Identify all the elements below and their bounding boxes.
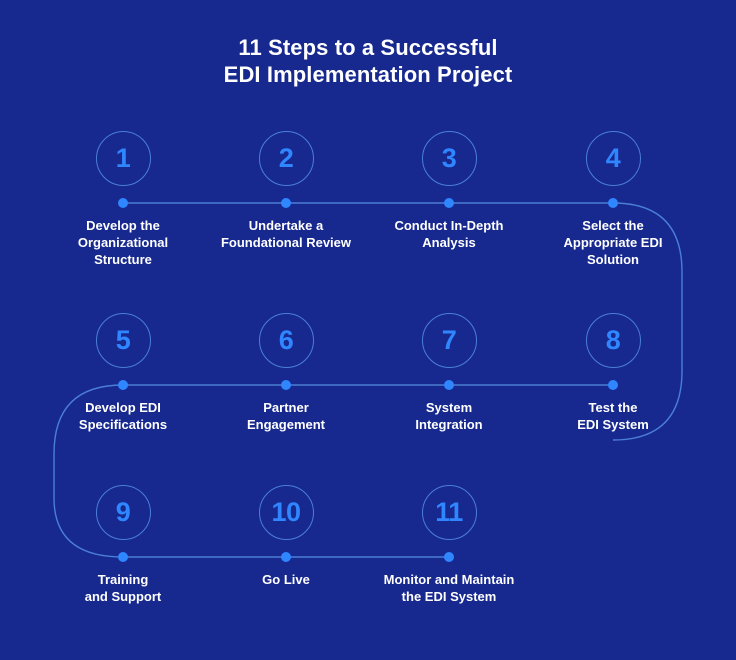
step-item-5[interactable]: 5 Develop EDI Specifications — [42, 313, 205, 433]
step-label-6: Partner Engagement — [205, 399, 368, 433]
step-circle-11: 11 — [422, 485, 477, 540]
step-circle-5: 5 — [96, 313, 151, 368]
step-dot-5 — [118, 380, 128, 390]
step-label-8: Test the EDI System — [532, 399, 695, 433]
step-item-8[interactable]: 8 Test the EDI System — [532, 313, 695, 433]
step-dot-1 — [118, 198, 128, 208]
title-line-2: EDI Implementation Project — [0, 61, 736, 88]
step-number-9: 9 — [116, 499, 131, 526]
step-item-11[interactable]: 11 Monitor and Maintain the EDI System — [368, 485, 531, 605]
step-number-11: 11 — [435, 499, 463, 526]
step-dot-2 — [281, 198, 291, 208]
step-label-7: System Integration — [368, 399, 531, 433]
step-label-3: Conduct In-Depth Analysis — [368, 217, 531, 251]
step-dot-3 — [444, 198, 454, 208]
step-item-6[interactable]: 6 Partner Engagement — [205, 313, 368, 433]
step-label-2: Undertake a Foundational Review — [205, 217, 368, 251]
step-label-4: Select the Appropriate EDI Solution — [532, 217, 695, 268]
step-item-1[interactable]: 1 Develop the Organizational Structure — [42, 131, 205, 268]
step-label-9: Training and Support — [42, 571, 205, 605]
step-number-3: 3 — [442, 145, 457, 172]
step-label-11: Monitor and Maintain the EDI System — [368, 571, 531, 605]
step-item-9[interactable]: 9 Training and Support — [42, 485, 205, 605]
step-circle-10: 10 — [259, 485, 314, 540]
step-circle-9: 9 — [96, 485, 151, 540]
step-dot-4 — [608, 198, 618, 208]
step-number-7: 7 — [442, 327, 457, 354]
step-item-3[interactable]: 3 Conduct In-Depth Analysis — [368, 131, 531, 251]
step-number-5: 5 — [116, 327, 131, 354]
step-item-4[interactable]: 4 Select the Appropriate EDI Solution — [532, 131, 695, 268]
step-circle-8: 8 — [586, 313, 641, 368]
step-number-10: 10 — [271, 499, 300, 526]
infographic-canvas: 11 Steps to a Successful EDI Implementat… — [0, 0, 736, 660]
step-label-1: Develop the Organizational Structure — [42, 217, 205, 268]
step-item-7[interactable]: 7 System Integration — [368, 313, 531, 433]
step-number-4: 4 — [606, 145, 621, 172]
step-item-10[interactable]: 10 Go Live — [205, 485, 368, 588]
step-dot-9 — [118, 552, 128, 562]
step-circle-2: 2 — [259, 131, 314, 186]
title-line-1: 11 Steps to a Successful — [0, 34, 736, 61]
step-circle-4: 4 — [586, 131, 641, 186]
step-number-8: 8 — [606, 327, 621, 354]
step-label-10: Go Live — [205, 571, 368, 588]
step-number-1: 1 — [116, 145, 131, 172]
step-number-2: 2 — [279, 145, 294, 172]
step-circle-7: 7 — [422, 313, 477, 368]
step-circle-3: 3 — [422, 131, 477, 186]
step-circle-1: 1 — [96, 131, 151, 186]
step-number-6: 6 — [279, 327, 294, 354]
step-circle-6: 6 — [259, 313, 314, 368]
step-dot-11 — [444, 552, 454, 562]
step-dot-7 — [444, 380, 454, 390]
step-label-5: Develop EDI Specifications — [42, 399, 205, 433]
step-dot-6 — [281, 380, 291, 390]
step-dot-10 — [281, 552, 291, 562]
page-title: 11 Steps to a Successful EDI Implementat… — [0, 34, 736, 88]
step-item-2[interactable]: 2 Undertake a Foundational Review — [205, 131, 368, 251]
step-dot-8 — [608, 380, 618, 390]
